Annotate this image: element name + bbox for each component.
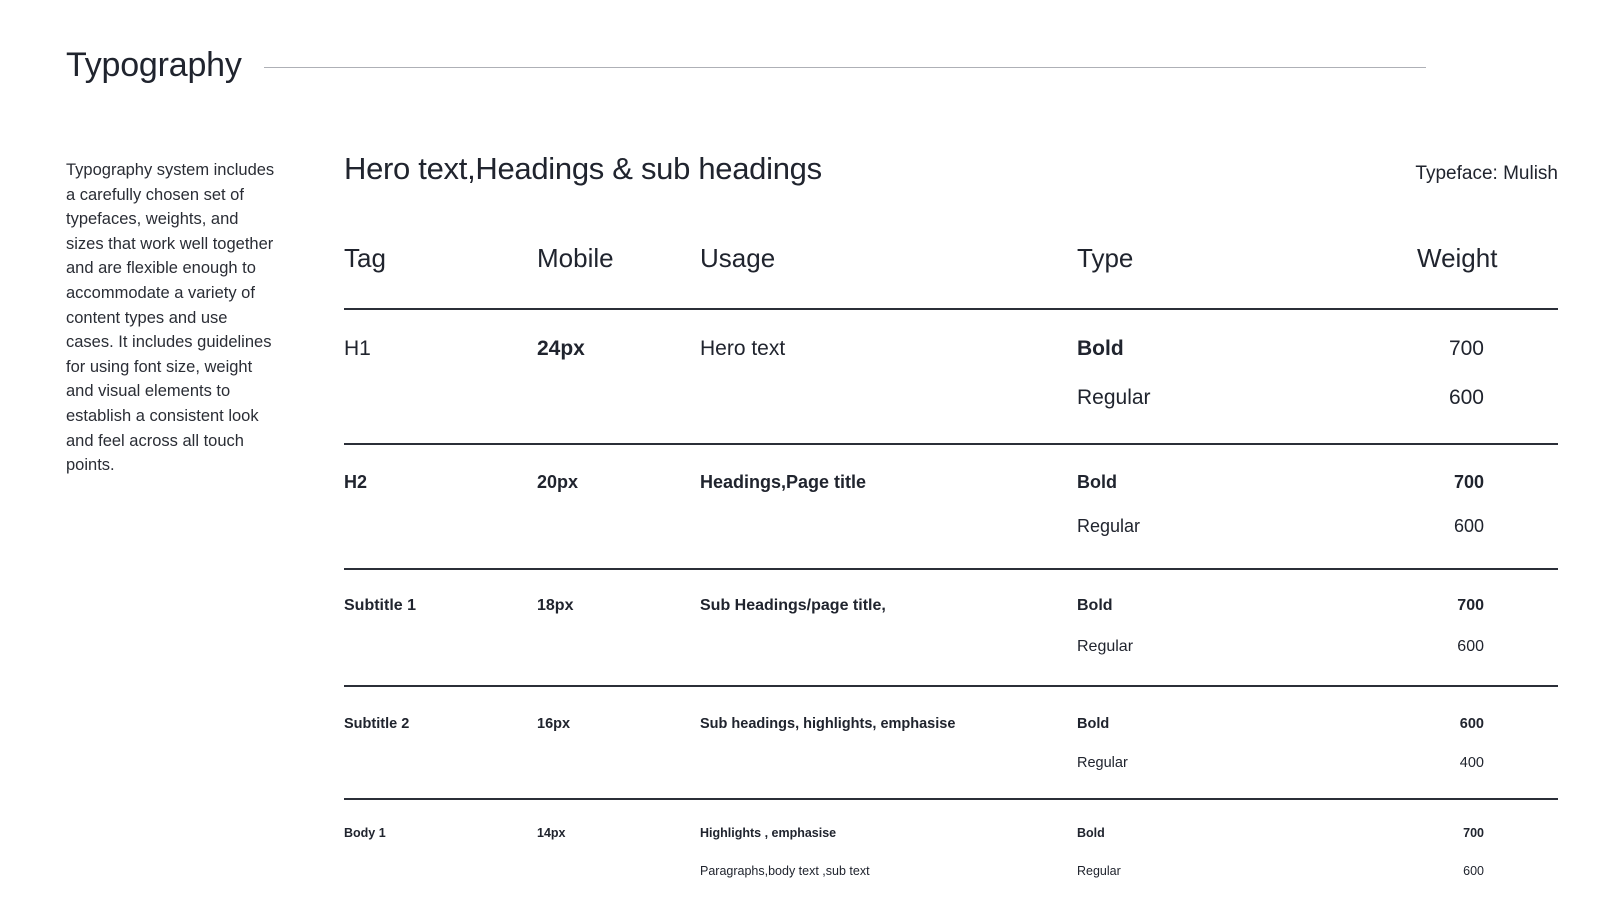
cell-weight: 700 — [1417, 471, 1558, 494]
cell-usage: Headings,Page title — [700, 471, 1077, 494]
column-header-usage: Usage — [700, 243, 1077, 274]
row-body-body-1: Body 1 14px Highlights , emphasise Bold … — [344, 800, 1558, 900]
cell-usage: Hero text — [700, 336, 1077, 362]
page-title: Typography — [66, 48, 242, 82]
cell-weight: 700 — [1417, 596, 1558, 616]
main-panel: Hero text,Headings & sub headings Typefa… — [344, 150, 1558, 900]
cell-mobile: 18px — [537, 596, 700, 616]
cell-mobile: 20px — [537, 471, 700, 494]
cell-type: Bold — [1077, 336, 1417, 362]
cell-weight: 600 — [1417, 385, 1558, 411]
section-header: Hero text,Headings & sub headings Typefa… — [344, 150, 1558, 187]
cell-weight: 600 — [1417, 515, 1558, 538]
cell-tag: Body 1 — [344, 826, 537, 842]
row-line-secondary: Regular 400 — [344, 754, 1558, 772]
table-row: Body 1 14px Highlights , emphasise Bold … — [344, 800, 1558, 900]
row-body-subtitle-2: Subtitle 2 16px Sub headings, highlights… — [344, 687, 1558, 798]
row-line-primary: H2 20px Headings,Page title Bold 700 — [344, 471, 1558, 494]
cell-type: Bold — [1077, 471, 1417, 494]
column-header-weight: Weight — [1417, 243, 1571, 274]
typography-style-guide-page: Typography Typography system includes a … — [0, 0, 1600, 900]
cell-tag: Subtitle 2 — [344, 715, 537, 733]
row-body-subtitle-1: Subtitle 1 18px Sub Headings/page title,… — [344, 570, 1558, 685]
section-title: Hero text,Headings & sub headings — [344, 150, 822, 187]
column-header-mobile: Mobile — [537, 243, 700, 274]
cell-weight: 600 — [1417, 864, 1558, 880]
table-row: H2 20px Headings,Page title Bold 700 Reg… — [344, 445, 1558, 570]
header-divider-rule — [264, 67, 1426, 68]
column-header-type: Type — [1077, 243, 1417, 274]
row-line-secondary: Regular 600 — [344, 637, 1558, 657]
typeface-label: Typeface: Mulish — [1415, 163, 1558, 185]
cell-tag: Subtitle 1 — [344, 596, 537, 616]
cell-weight: 600 — [1417, 715, 1558, 733]
table-row: H1 24px Hero text Bold 700 Regular 600 — [344, 310, 1558, 445]
cell-type: Bold — [1077, 826, 1417, 842]
cell-type: Regular — [1077, 515, 1417, 538]
cell-type: Bold — [1077, 596, 1417, 616]
page-header: Typography — [66, 48, 1426, 82]
cell-type: Bold — [1077, 715, 1417, 733]
cell-weight: 600 — [1417, 637, 1558, 657]
row-line-primary: Subtitle 1 18px Sub Headings/page title,… — [344, 596, 1558, 616]
cell-weight: 400 — [1417, 754, 1558, 772]
table-row: Subtitle 2 16px Sub headings, highlights… — [344, 687, 1558, 800]
cell-usage: Highlights , emphasise — [700, 826, 1077, 842]
row-line-primary: H1 24px Hero text Bold 700 — [344, 336, 1558, 362]
row-line-secondary: Regular 600 — [344, 385, 1558, 411]
cell-type: Regular — [1077, 864, 1417, 880]
cell-usage: Sub headings, highlights, emphasise — [700, 715, 1077, 733]
cell-weight: 700 — [1417, 826, 1558, 842]
table-header-row: Tag Mobile Usage Type Weight — [344, 243, 1558, 308]
row-line-primary: Subtitle 2 16px Sub headings, highlights… — [344, 715, 1558, 733]
cell-tag: H2 — [344, 471, 537, 494]
row-line-secondary: Paragraphs,body text ,sub text Regular 6… — [344, 864, 1558, 880]
row-body-h2: H2 20px Headings,Page title Bold 700 Reg… — [344, 445, 1558, 568]
cell-mobile: 24px — [537, 336, 700, 362]
cell-usage: Sub Headings/page title, — [700, 596, 1077, 616]
cell-type: Regular — [1077, 637, 1417, 657]
cell-mobile: 16px — [537, 715, 700, 733]
typography-description: Typography system includes a carefully c… — [66, 158, 276, 478]
row-line-secondary: Regular 600 — [344, 515, 1558, 538]
cell-type: Regular — [1077, 754, 1417, 772]
table-row: Subtitle 1 18px Sub Headings/page title,… — [344, 570, 1558, 687]
cell-type: Regular — [1077, 385, 1417, 411]
cell-weight: 700 — [1417, 336, 1558, 362]
cell-mobile: 14px — [537, 826, 700, 842]
row-body-h1: H1 24px Hero text Bold 700 Regular 600 — [344, 310, 1558, 443]
row-line-primary: Body 1 14px Highlights , emphasise Bold … — [344, 826, 1558, 842]
cell-usage: Paragraphs,body text ,sub text — [700, 864, 1077, 880]
cell-tag: H1 — [344, 336, 537, 362]
column-header-tag: Tag — [344, 243, 537, 274]
typography-scale-table: Tag Mobile Usage Type Weight H1 24px Her… — [344, 243, 1558, 900]
